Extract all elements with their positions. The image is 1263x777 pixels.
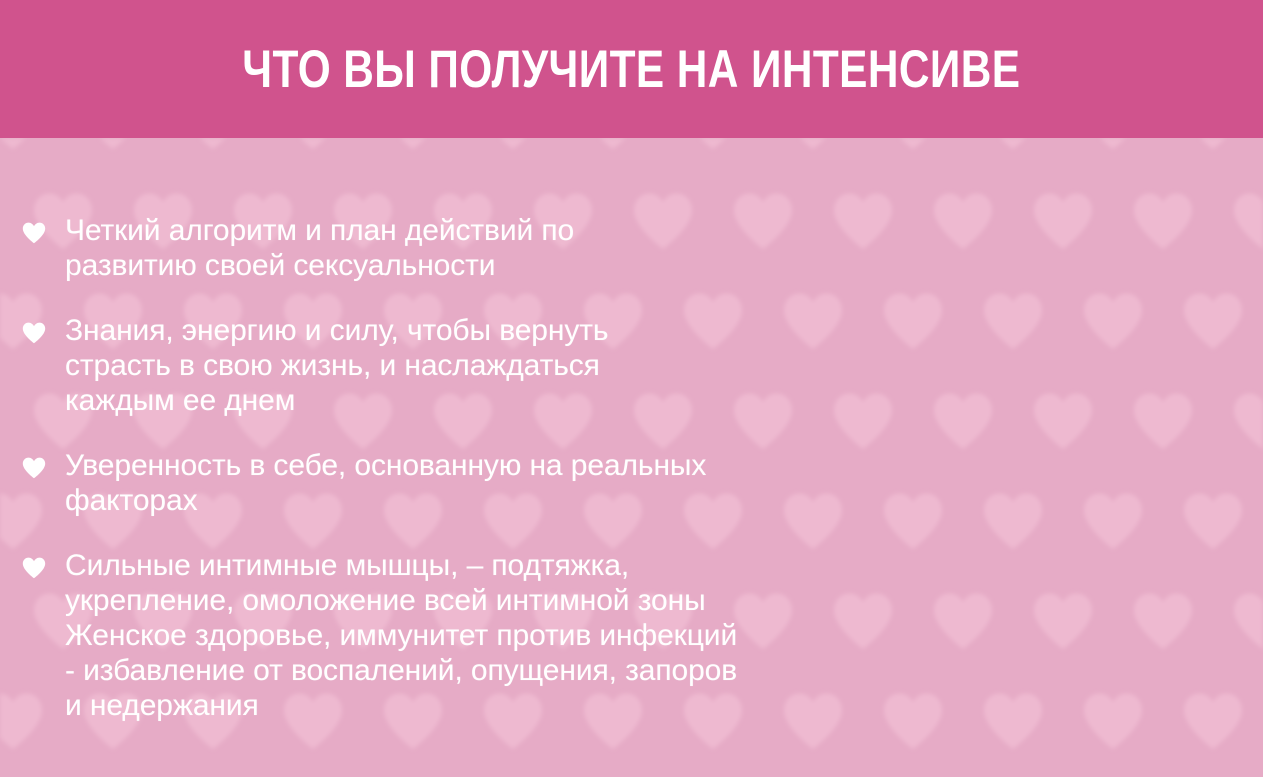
list-item-label: Четкий алгоритм и план действий по разви… bbox=[65, 213, 1263, 283]
list-item-label: Уверенность в себе, основанную на реальн… bbox=[65, 448, 1263, 518]
heart-icon bbox=[22, 457, 46, 479]
list-item-label: Знания, энергию и силу, чтобы вернуть ст… bbox=[65, 313, 1263, 418]
list-item: Четкий алгоритм и план действий по разви… bbox=[0, 213, 1263, 283]
benefits-list: Четкий алгоритм и план действий по разви… bbox=[0, 213, 1263, 723]
heart-icon bbox=[22, 557, 46, 579]
header-band: ЧТО ВЫ ПОЛУЧИТЕ НА ИНТЕНСИВЕ bbox=[0, 0, 1263, 138]
list-item: Уверенность в себе, основанную на реальн… bbox=[0, 448, 1263, 518]
slide-root: ЧТО ВЫ ПОЛУЧИТЕ НА ИНТЕНСИВЕ bbox=[0, 0, 1263, 777]
heart-icon bbox=[22, 322, 46, 344]
list-item-label: Сильные интимные мышцы, – подтяжка, укре… bbox=[65, 548, 1263, 723]
page-title: ЧТО ВЫ ПОЛУЧИТЕ НА ИНТЕНСИВЕ bbox=[242, 43, 1020, 96]
heart-icon bbox=[22, 222, 46, 244]
list-item: Сильные интимные мышцы, – подтяжка, укре… bbox=[0, 548, 1263, 723]
list-item: Знания, энергию и силу, чтобы вернуть ст… bbox=[0, 313, 1263, 418]
content-area: Четкий алгоритм и план действий по разви… bbox=[0, 138, 1263, 777]
